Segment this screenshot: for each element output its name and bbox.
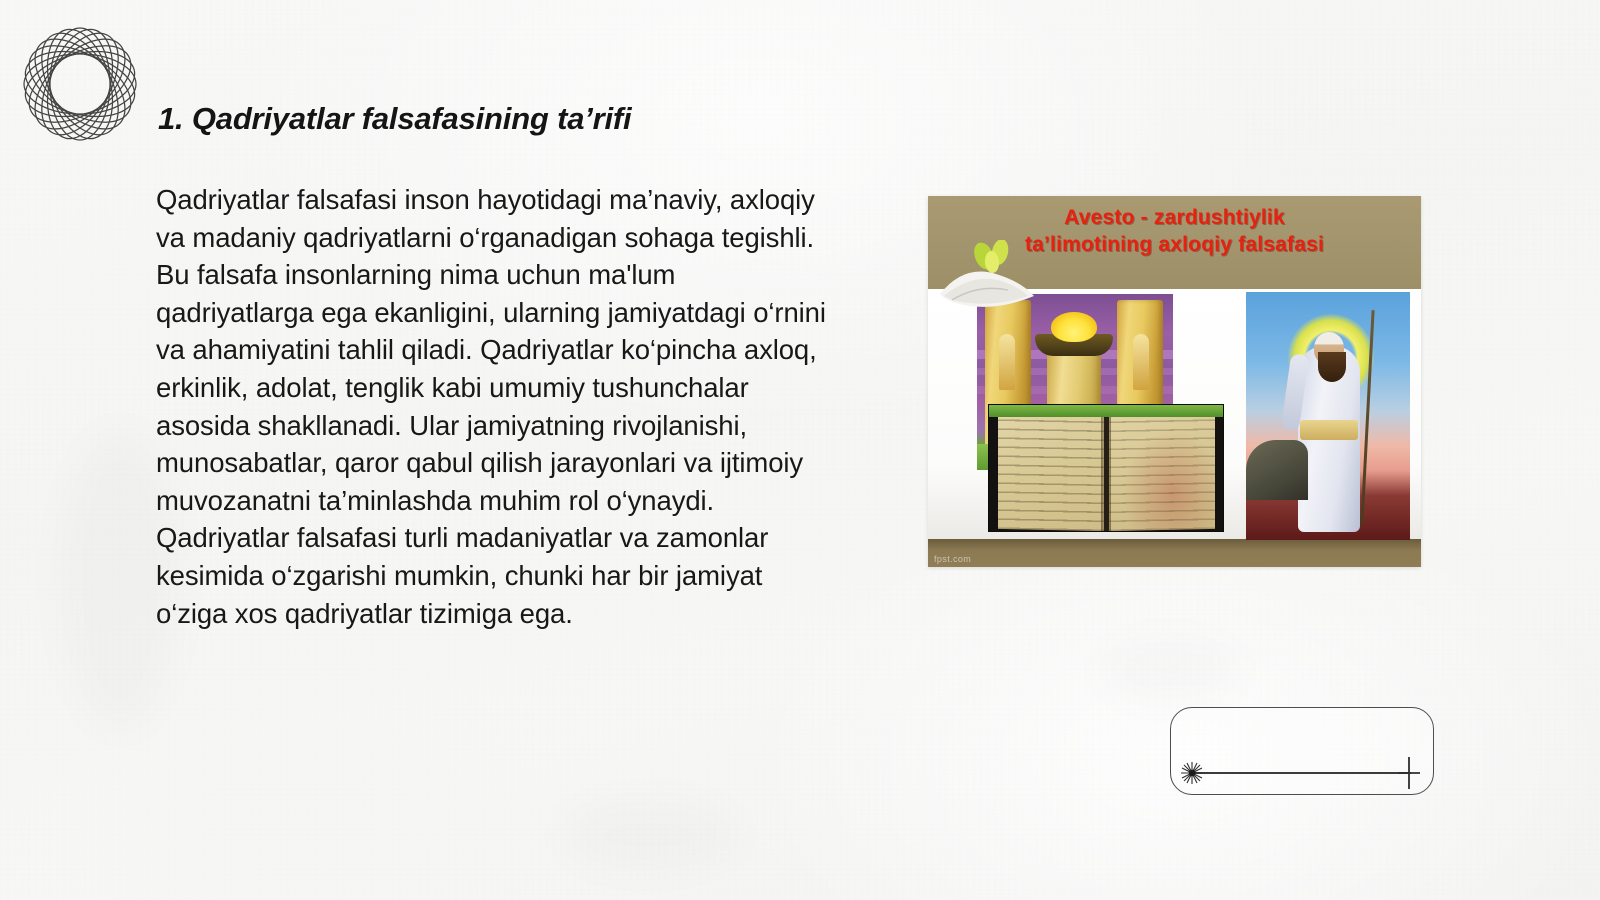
plus-icon[interactable] [1397,756,1421,790]
picture-watermark: fpst.com [934,554,971,564]
slide-canvas: 1. Qadriyatlar falsafasining ta’rifi Qad… [0,0,1600,900]
rock-foreground [1246,440,1308,500]
background-smudge [560,800,740,870]
avesta-illustration: Avesto - zardushtiylik ta’limotining axl… [928,196,1421,567]
manuscript-page-right [1109,409,1215,531]
beard [1318,352,1346,382]
sacred-fire-flame [1051,312,1097,342]
spirograph-ornament [4,8,156,160]
manuscript-top-edge [989,405,1223,417]
rounded-frame-widget[interactable] [1170,707,1434,795]
background-smudge [1100,640,1240,700]
picture-caption-line-1: Avesto - zardushtiylik [942,204,1407,231]
starburst-icon[interactable] [1179,760,1205,786]
picture-caption: Avesto - zardushtiylik ta’limotining axl… [928,204,1421,258]
manuscript-spine [1101,409,1111,531]
body-paragraph: Qadriyatlar falsafasi inson hayotidagi m… [156,181,828,632]
sash [1300,420,1358,440]
picture-bottom-band [928,539,1421,567]
avesta-manuscript-panel [988,404,1224,532]
zoroaster-panel [1246,292,1410,540]
manuscript-page-left [998,409,1104,531]
page-title: 1. Qadriyatlar falsafasining ta’rifi [158,101,898,138]
widget-rule [1191,772,1411,774]
picture-caption-line-2: ta’limotining axloqiy falsafasi [942,231,1407,258]
